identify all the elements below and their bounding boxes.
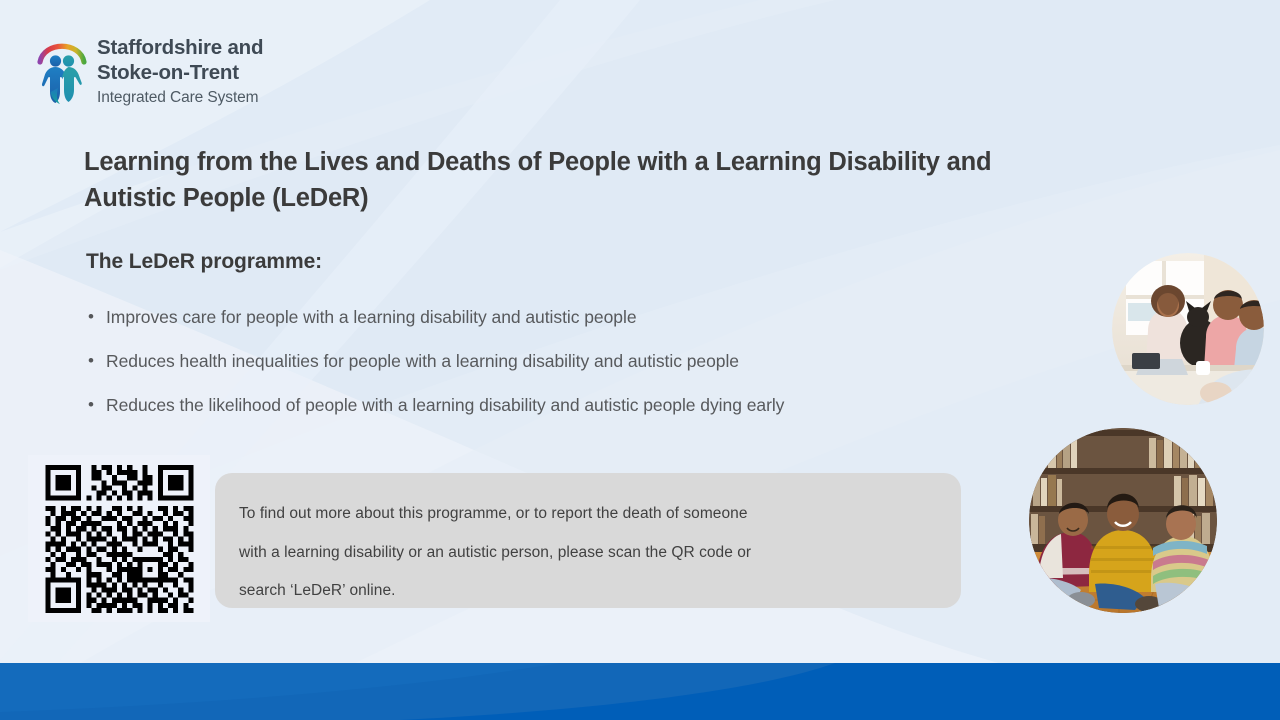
bullet-dot-icon: •: [84, 392, 106, 418]
list-item-label: Reduces health inequalities for people w…: [106, 348, 739, 374]
list-item-label: Improves care for people with a learning…: [106, 304, 637, 330]
callout-box: To find out more about this programme, o…: [215, 473, 961, 608]
organisation-logo: Staffordshire and Stoke-on-Trent Integra…: [36, 32, 263, 108]
list-item: • Reduces the likelihood of people with …: [84, 392, 1084, 436]
callout-line-2: with a learning disability or an autisti…: [225, 534, 935, 573]
callout-line-3: search ‘LeDeR’ online.: [225, 572, 935, 611]
qr-code-icon[interactable]: [42, 465, 197, 613]
list-item-label: Reduces the likelihood of people with a …: [106, 392, 784, 418]
logo-subtitle: Integrated Care System: [97, 87, 263, 108]
two-figures-rainbow-arc-icon: [36, 32, 88, 104]
photo-people-meeting-with-dog-icon: [1112, 253, 1264, 405]
footer-bar: [0, 663, 1280, 720]
callout-line-1: To find out more about this programme, o…: [225, 495, 935, 534]
bullet-dot-icon: •: [84, 304, 106, 330]
list-item: • Reduces health inequalities for people…: [84, 348, 1084, 392]
bullet-list: • Improves care for people with a learni…: [84, 304, 1084, 436]
photo-three-friends-on-floor-icon: [1029, 428, 1217, 613]
logo-line-1: Staffordshire and: [97, 35, 263, 60]
bullet-dot-icon: •: [84, 348, 106, 374]
page-title: Learning from the Lives and Deaths of Pe…: [84, 144, 1044, 216]
list-item: • Improves care for people with a learni…: [84, 304, 1084, 348]
section-subheading: The LeDeR programme:: [86, 250, 322, 274]
logo-line-2: Stoke-on-Trent: [97, 60, 263, 85]
